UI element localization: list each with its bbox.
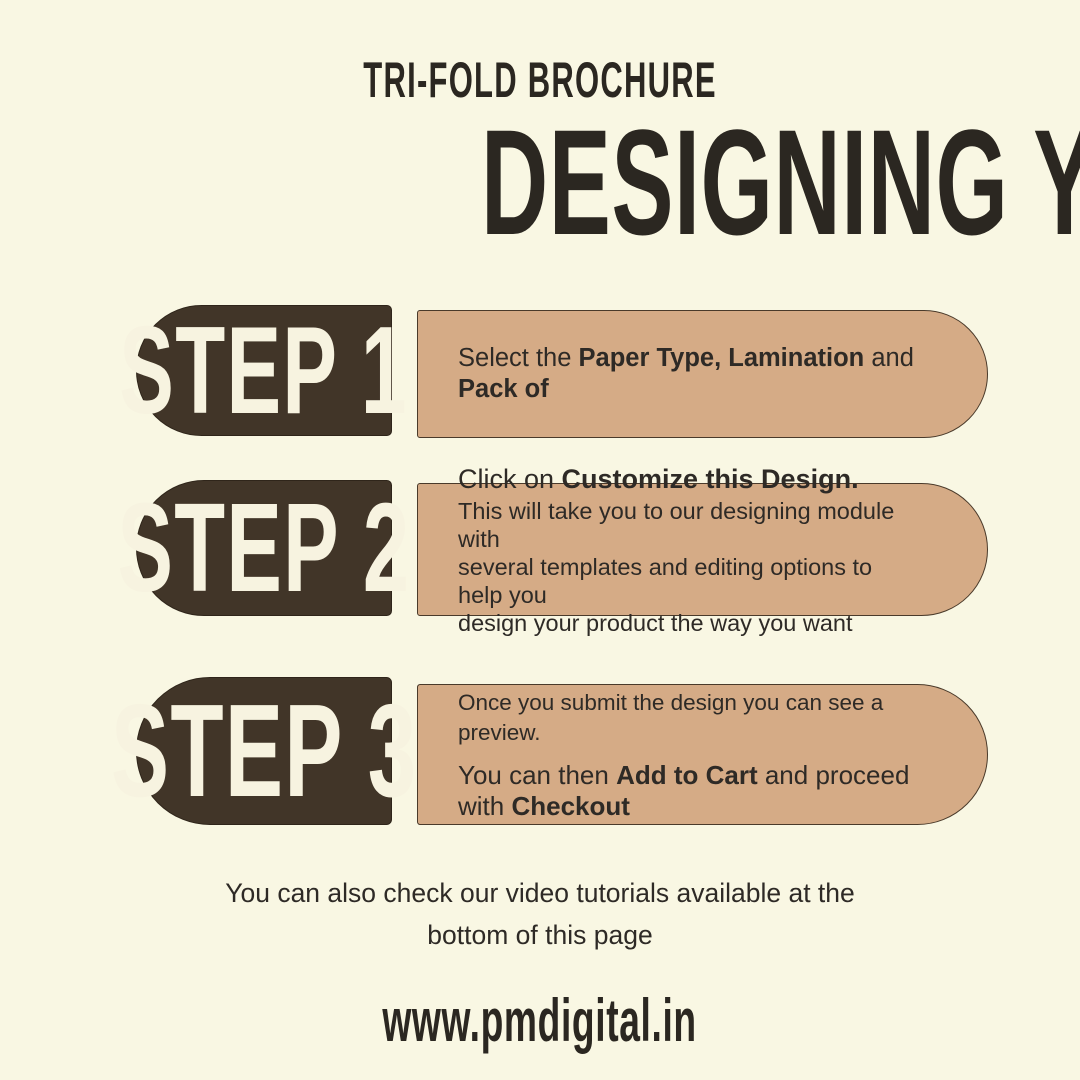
panel-line: You can then Add to Cart and proceed: [458, 760, 917, 791]
panel-small-line: Once you submit the design you can see a…: [458, 688, 917, 748]
step-panel-text: Select the Paper Type, Lamination and Pa…: [418, 343, 987, 405]
panel-line: several templates and editing options to…: [458, 553, 917, 609]
step-panel-text: Click on Customize this Design. This wil…: [418, 462, 987, 637]
step-badge-label: STEP 2: [118, 485, 411, 611]
step-badge-3[interactable]: STEP 3: [136, 677, 392, 825]
panel-line: This will take you to our designing modu…: [458, 497, 917, 553]
step-badge-2[interactable]: STEP 2: [136, 480, 392, 616]
steps-list: STEP 1 Select the Paper Type, Lamination…: [0, 305, 1080, 837]
step-badge-1[interactable]: STEP 1: [136, 305, 392, 436]
step-row: STEP 1 Select the Paper Type, Lamination…: [0, 305, 1080, 455]
panel-line: design your product the way you want: [458, 609, 917, 637]
step-badge-label: STEP 1: [120, 309, 408, 433]
page-title-container: DESIGNING YOUR OWN PRODUCT: [0, 124, 1080, 240]
panel-line: with Checkout: [458, 791, 917, 822]
step-panel-2: Click on Customize this Design. This wil…: [417, 483, 988, 616]
step-panel-3: Once you submit the design you can see a…: [417, 684, 988, 825]
step-row: STEP 2 Click on Customize this Design. T…: [0, 480, 1080, 655]
panel-lead-line: Click on Customize this Design.: [458, 462, 917, 496]
step-row: STEP 3 Once you submit the design you ca…: [0, 677, 1080, 837]
step-badge-label: STEP 3: [111, 685, 418, 817]
panel-line: Select the Paper Type, Lamination and: [458, 343, 917, 374]
poster-canvas: TRI-FOLD BROCHURE DESIGNING YOUR OWN PRO…: [0, 0, 1080, 1080]
panel-line: Pack of: [458, 374, 917, 405]
step-panel-1: Select the Paper Type, Lamination and Pa…: [417, 310, 988, 438]
page-title: DESIGNING YOUR OWN PRODUCT: [481, 124, 1080, 240]
footer-note: You can also check our video tutorials a…: [0, 872, 1080, 956]
footer-url-container: www.pmdigital.in: [0, 994, 1080, 1050]
step-panel-text: Once you submit the design you can see a…: [418, 688, 987, 822]
footer-url[interactable]: www.pmdigital.in: [383, 994, 697, 1048]
